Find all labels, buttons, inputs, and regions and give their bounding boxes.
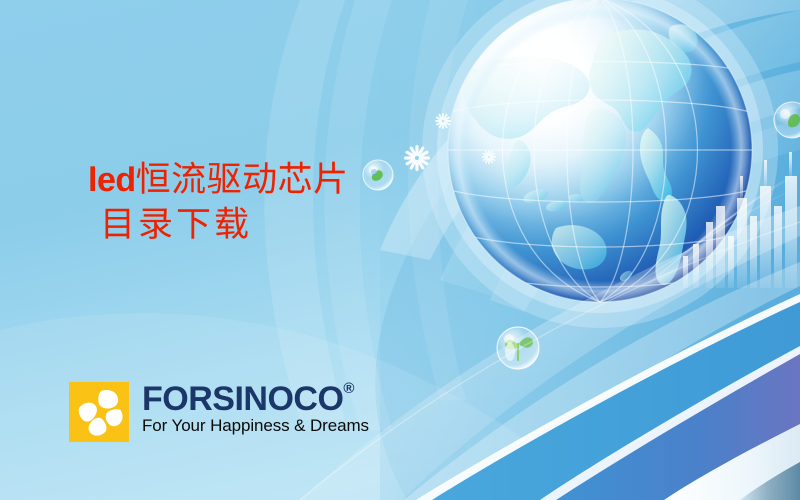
headline-line-1-text: 恒流驱动芯片 (136, 160, 349, 200)
headline-line-2: 目录下载 (100, 208, 508, 243)
registered-trademark-icon: ® (343, 380, 354, 397)
four-petal-flower-icon (69, 382, 129, 442)
logo-text-block: FORSINOCO® For Your Happiness & Dreams (142, 382, 369, 435)
logo-wordmark: FORSINOCO® (142, 383, 369, 416)
logo-tagline: For Your Happiness & Dreams (142, 417, 369, 435)
slide-canvas: led恒流驱动芯片 目录下载 FORSINOCO® For Your (0, 0, 800, 500)
headline-block: led恒流驱动芯片 目录下载 (88, 163, 508, 243)
company-logo: FORSINOCO® For Your Happiness & Dreams (69, 382, 369, 442)
headline-line-1: led恒流驱动芯片 (88, 163, 508, 198)
headline-led-prefix: led (88, 161, 136, 199)
logo-wordmark-text: FORSINOCO (142, 380, 343, 418)
